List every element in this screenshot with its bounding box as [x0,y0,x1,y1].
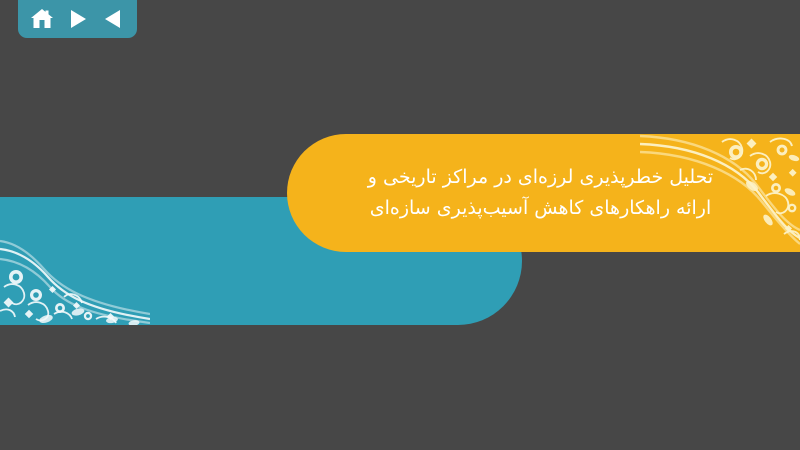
presentation-title: تحلیل خطرپذیری لرزه‌ای در مراکز تاریخی و… [287,162,800,224]
home-button[interactable] [27,5,57,33]
title-card: تحلیل خطرپذیری لرزه‌ای در مراکز تاریخی و… [287,134,800,252]
slide-canvas: تحلیل خطرپذیری لرزه‌ای در مراکز تاریخی و… [0,0,800,450]
triangle-left-icon [104,9,122,29]
triangle-right-icon [69,9,87,29]
back-button[interactable] [98,5,128,33]
arabesque-ornament [0,215,150,325]
title-line-1: تحلیل خطرپذیری لرزه‌ای در مراکز تاریخی و [305,162,776,193]
home-icon [30,8,54,30]
navigation-bar [18,0,137,38]
title-line-2: ارائه راهکارهای کاهش آسیب‌پذیری سازه‌ای [305,193,776,224]
forward-button[interactable] [63,5,93,33]
